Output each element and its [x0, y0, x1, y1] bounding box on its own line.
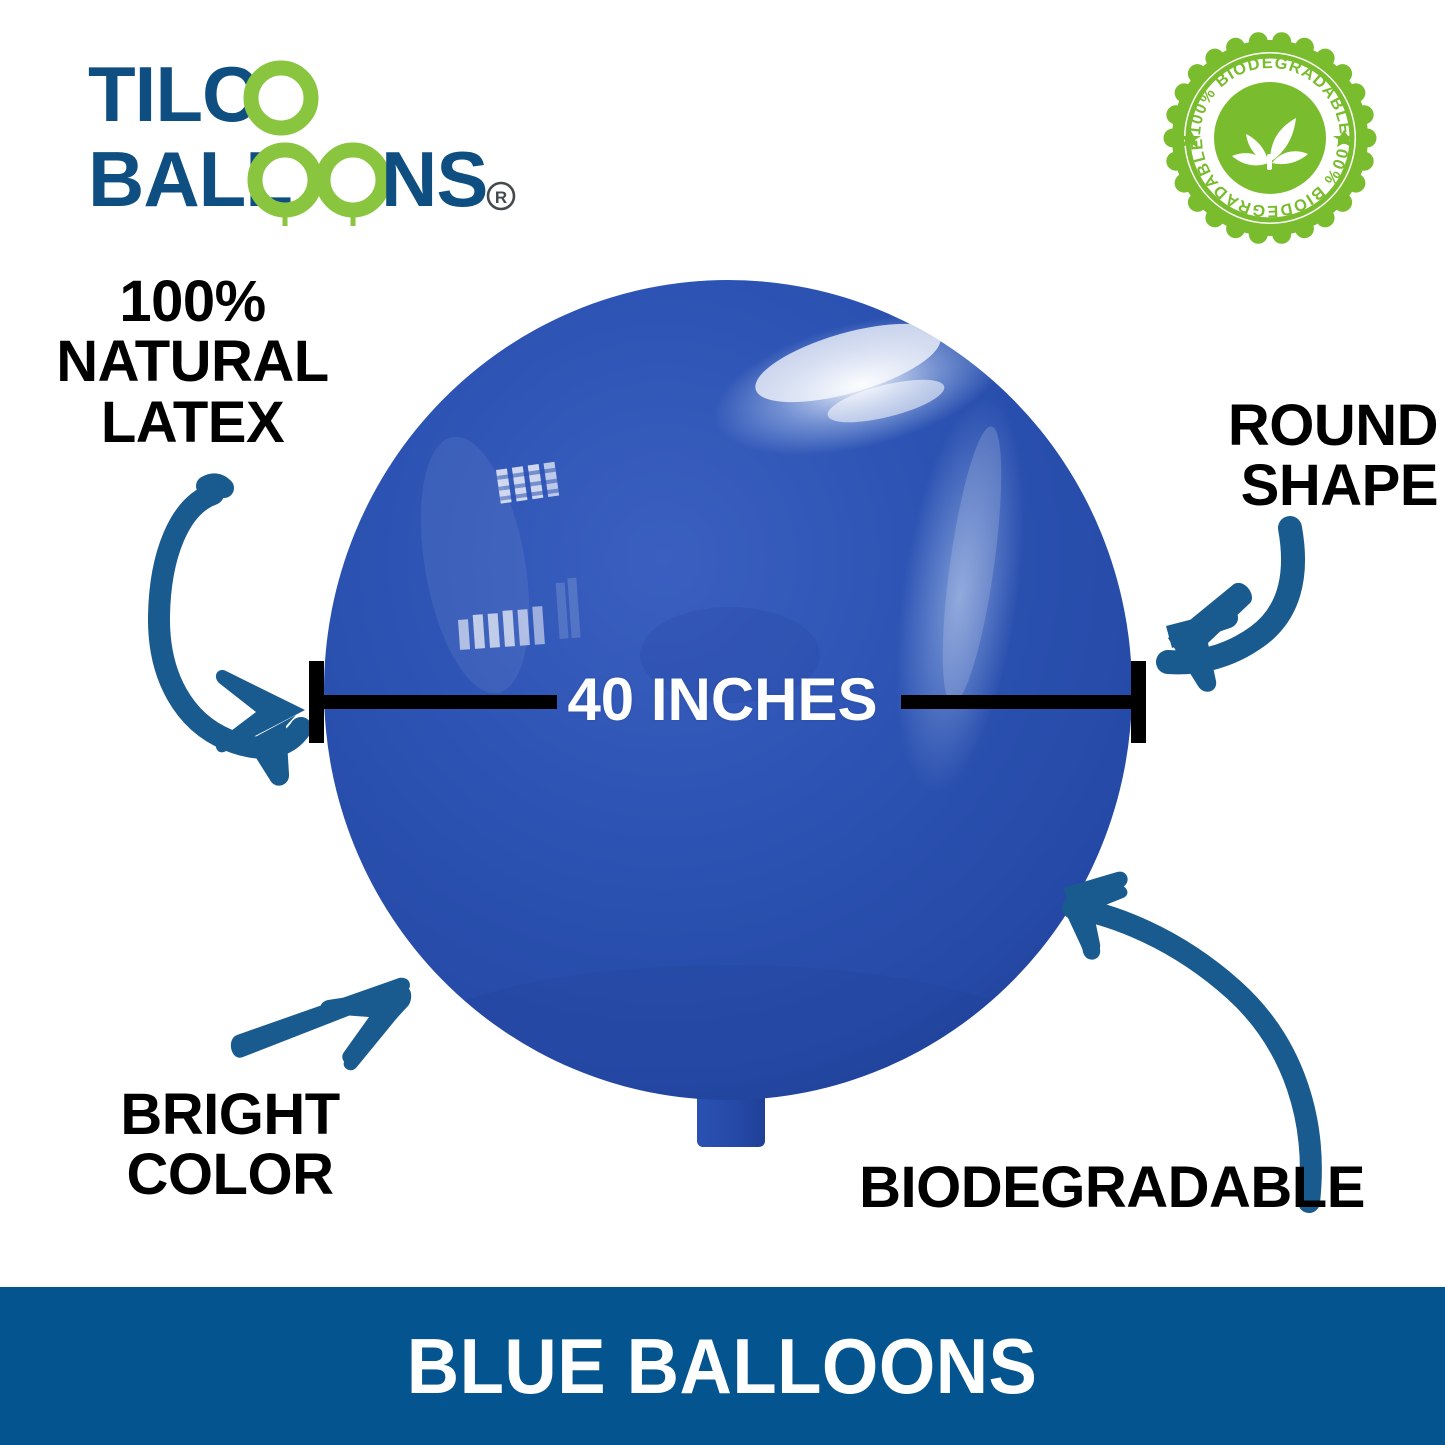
logo-line-2: BALL NS R — [88, 135, 514, 226]
logo-text-tilc: TILC — [88, 56, 257, 138]
footer-banner: BLUE BALLOONS — [0, 1287, 1445, 1445]
callout-round-shape: ROUND SHAPE — [1048, 396, 1438, 517]
product-infographic: TILC BALL NS — [0, 0, 1445, 1445]
biodegradable-seal: 100% BIODEGRADABLE 100% BIODEGRADABLE — [1162, 30, 1378, 246]
logo-text-ns: NS — [381, 135, 487, 223]
callout-biodegradable: BIODEGRADABLE — [812, 1158, 1412, 1218]
callout-bright-color: BRIGHT COLOR — [70, 1085, 390, 1206]
callout-natural-latex: 100% NATURAL LATEX — [0, 272, 385, 453]
logo-balloon-o-1 — [251, 68, 311, 128]
dimension-label: 40 INCHES — [0, 655, 1445, 745]
logo-balloon-o-3 — [323, 150, 383, 226]
logo-line-1: TILC — [88, 56, 311, 138]
seal-center-disc — [1214, 82, 1326, 194]
footer-title: BLUE BALLOONS — [407, 1321, 1038, 1412]
tilco-balloons-logo: TILC BALL NS — [88, 56, 558, 226]
svg-text:R: R — [495, 188, 507, 207]
registered-mark-icon: R — [488, 183, 514, 209]
